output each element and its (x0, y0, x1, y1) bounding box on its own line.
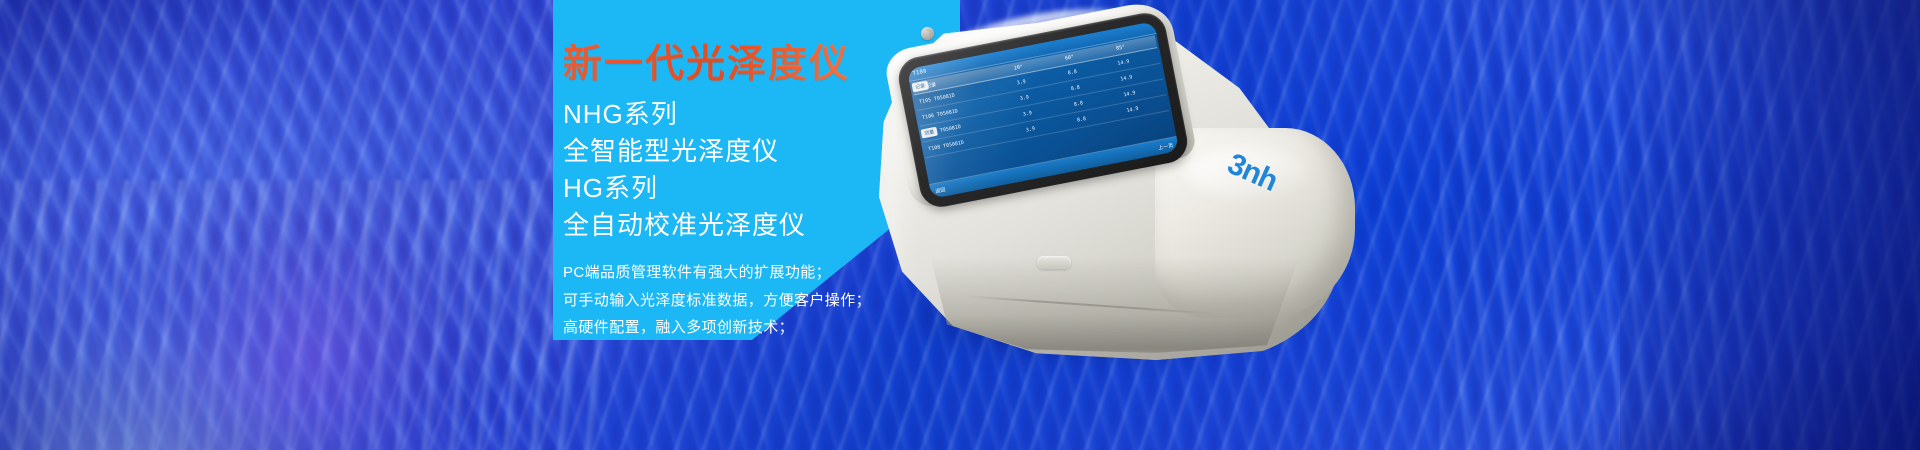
banner-text-block: 新一代光泽度仪 NHG系列 全智能型光泽度仪 HG系列 全自动校准光泽度仪 PC… (563, 42, 1083, 342)
subtitle-line-4: 全自动校准光泽度仪 (563, 207, 1083, 244)
subtitle-list: NHG系列 全智能型光泽度仪 HG系列 全自动校准光泽度仪 (563, 96, 1083, 244)
feature-line-2: 可手动输入光泽度标准数据，方便客户操作； (563, 287, 1083, 315)
page-title: 新一代光泽度仪 (563, 42, 1083, 87)
feature-line-1: PC端品质管理软件有强大的扩展功能； (563, 259, 1083, 287)
lcd-prev-page-button[interactable]: 上一页 (1158, 141, 1174, 151)
feature-line-3: 高硬件配置，融入多项创新技术； (563, 314, 1083, 342)
subtitle-line-2: 全智能型光泽度仪 (563, 133, 1083, 170)
feature-description-list: PC端品质管理软件有强大的扩展功能； 可手动输入光泽度标准数据，方便客户操作； … (563, 259, 1083, 342)
subtitle-line-3: HG系列 (563, 170, 1083, 207)
hero-banner: 新一代光泽度仪 NHG系列 全智能型光泽度仪 HG系列 全自动校准光泽度仪 PC… (0, 0, 1920, 450)
subtitle-line-1: NHG系列 (563, 96, 1083, 133)
power-button[interactable] (920, 26, 935, 41)
